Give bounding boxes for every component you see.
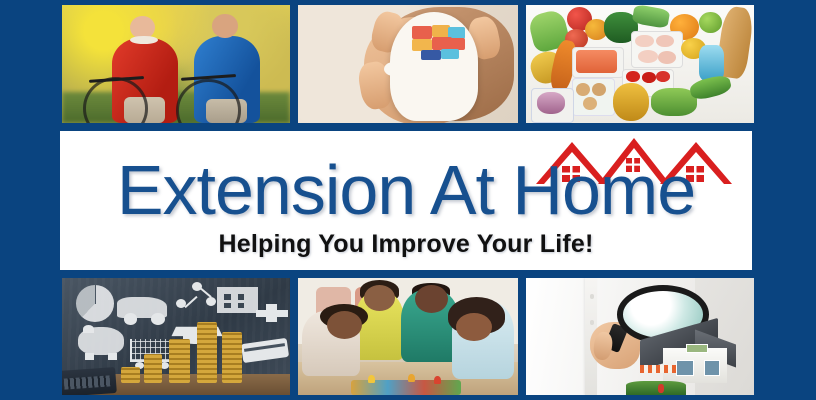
mental-health-puzzle-heart-photo bbox=[298, 5, 518, 123]
head-profile-nose bbox=[384, 62, 404, 76]
model-house-window bbox=[704, 360, 720, 376]
game-piece bbox=[408, 374, 415, 382]
game-piece bbox=[368, 375, 375, 383]
red-onion bbox=[537, 92, 564, 113]
miniature-figure bbox=[658, 384, 664, 392]
house-icon bbox=[217, 287, 258, 313]
tagline: Helping You Improve Your Life! bbox=[60, 230, 752, 258]
piggy-bank-leg bbox=[108, 353, 117, 360]
board-game bbox=[351, 380, 461, 395]
home-inspection-magnifier-photo bbox=[526, 278, 754, 395]
logo-banner: Extension At Home Helping You Improve Yo… bbox=[60, 131, 752, 270]
financial-planning-chalkboard-photo bbox=[62, 278, 290, 395]
puzzle-piece bbox=[441, 49, 459, 60]
graph-node bbox=[192, 282, 202, 291]
chicken-breast bbox=[635, 35, 653, 48]
cherry-tomato bbox=[642, 72, 656, 83]
fresh-groceries-photo bbox=[526, 5, 754, 123]
salmon-fillet bbox=[576, 50, 617, 74]
model-house-awning bbox=[640, 365, 676, 373]
chicken-breast bbox=[638, 50, 659, 63]
coin-stack bbox=[197, 322, 218, 383]
egg bbox=[583, 97, 597, 110]
son-head bbox=[327, 311, 362, 339]
medical-cross-icon-bar bbox=[266, 304, 277, 323]
family-board-game-photo bbox=[298, 278, 518, 395]
coin-stack bbox=[144, 354, 162, 383]
egg bbox=[592, 83, 606, 96]
house-window bbox=[224, 303, 231, 309]
mother-head bbox=[364, 285, 395, 311]
house-window bbox=[238, 294, 245, 300]
coin-stack bbox=[169, 339, 190, 383]
car-wheel bbox=[124, 313, 138, 325]
man-head bbox=[212, 14, 237, 38]
banner-graphic: Extension At Home Helping You Improve Yo… bbox=[0, 0, 816, 400]
model-house-landscaping bbox=[626, 381, 685, 395]
piggy-bank-leg bbox=[85, 353, 94, 360]
car-wheel bbox=[151, 313, 165, 325]
coin-stack bbox=[222, 332, 243, 383]
egg bbox=[576, 83, 590, 96]
cherry-tomato bbox=[656, 71, 670, 82]
house-window bbox=[238, 303, 245, 309]
father-head bbox=[415, 285, 448, 313]
cherry-tomato bbox=[626, 71, 640, 82]
graph-node bbox=[206, 297, 216, 306]
page-title: Extension At Home bbox=[60, 155, 752, 225]
puzzle-piece bbox=[421, 50, 441, 61]
model-house-window bbox=[686, 344, 709, 353]
coin-stack bbox=[121, 367, 139, 383]
senior-couple-cycling-photo bbox=[62, 5, 290, 123]
daughter-head bbox=[456, 313, 491, 341]
puzzle-piece bbox=[412, 26, 432, 39]
house-window bbox=[224, 294, 231, 300]
piggy-bank-icon bbox=[78, 327, 124, 355]
melon bbox=[613, 83, 649, 121]
game-piece bbox=[434, 376, 441, 384]
woman-scarf bbox=[130, 36, 157, 44]
model-house-window bbox=[676, 360, 694, 376]
pie-chart-divider bbox=[95, 285, 96, 304]
